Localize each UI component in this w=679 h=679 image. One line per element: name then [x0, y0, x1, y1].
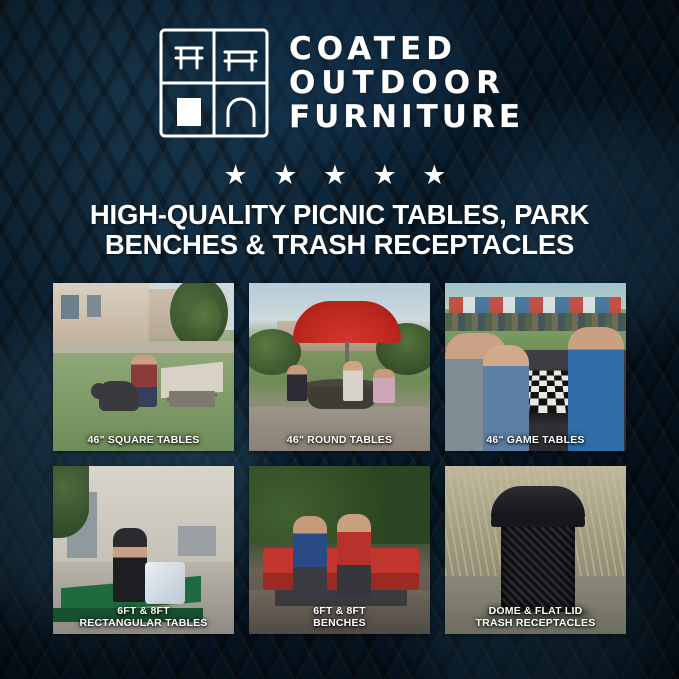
product-caption: 46" ROUND TABLES	[249, 430, 430, 451]
brand-line-1: COATED	[289, 32, 457, 66]
product-caption-line-2: TRASH RECEPTACLES	[476, 617, 596, 629]
brand-line-3: FURNITURE	[289, 100, 524, 134]
product-caption: 46" GAME TABLES	[445, 430, 626, 451]
product-caption-line-1: 6FT & 8FT	[117, 605, 170, 617]
product-card-round-tables[interactable]: 46" ROUND TABLES	[249, 283, 430, 451]
square-tables-photo	[53, 283, 234, 451]
product-caption: 46" SQUARE TABLES	[53, 430, 234, 451]
product-caption-line-2: BENCHES	[313, 617, 366, 629]
brand-logo: COATED OUTDOOR FURNITURE	[0, 24, 679, 142]
brand-line-2: OUTDOOR	[289, 66, 506, 100]
product-card-benches[interactable]: 6FT & 8FT BENCHES	[249, 466, 430, 634]
round-tables-photo	[249, 283, 430, 451]
product-card-square-tables[interactable]: 46" SQUARE TABLES	[53, 283, 234, 451]
product-caption-line-1: 6FT & 8FT	[313, 605, 366, 617]
product-caption: 6FT & 8FT RECTANGULAR TABLES	[53, 601, 234, 634]
product-banner: COATED OUTDOOR FURNITURE ★ ★ ★ ★ ★ HIGH-…	[0, 0, 679, 679]
product-caption-line-2: RECTANGULAR TABLES	[79, 617, 207, 629]
product-card-rectangular-tables[interactable]: 6FT & 8FT RECTANGULAR TABLES	[53, 466, 234, 634]
logo-mark-icon	[155, 24, 273, 142]
game-tables-photo	[445, 283, 626, 451]
headline-line-1: HIGH-QUALITY PICNIC TABLES, PARK	[0, 200, 679, 230]
headline: HIGH-QUALITY PICNIC TABLES, PARK BENCHES…	[0, 200, 679, 260]
headline-line-2: BENCHES & TRASH RECEPTACLES	[0, 230, 679, 260]
star-rating: ★ ★ ★ ★ ★	[0, 160, 679, 190]
product-caption-line-1: DOME & FLAT LID	[489, 605, 583, 617]
product-card-game-tables[interactable]: 46" GAME TABLES	[445, 283, 626, 451]
product-caption: 6FT & 8FT BENCHES	[249, 601, 430, 634]
brand-wordmark: COATED OUTDOOR FURNITURE	[289, 24, 524, 134]
product-grid: 46" SQUARE TABLES 46" ROUND TABLES 46" G…	[53, 283, 626, 634]
product-caption: DOME & FLAT LID TRASH RECEPTACLES	[445, 601, 626, 634]
product-card-trash-receptacles[interactable]: DOME & FLAT LID TRASH RECEPTACLES	[445, 466, 626, 634]
